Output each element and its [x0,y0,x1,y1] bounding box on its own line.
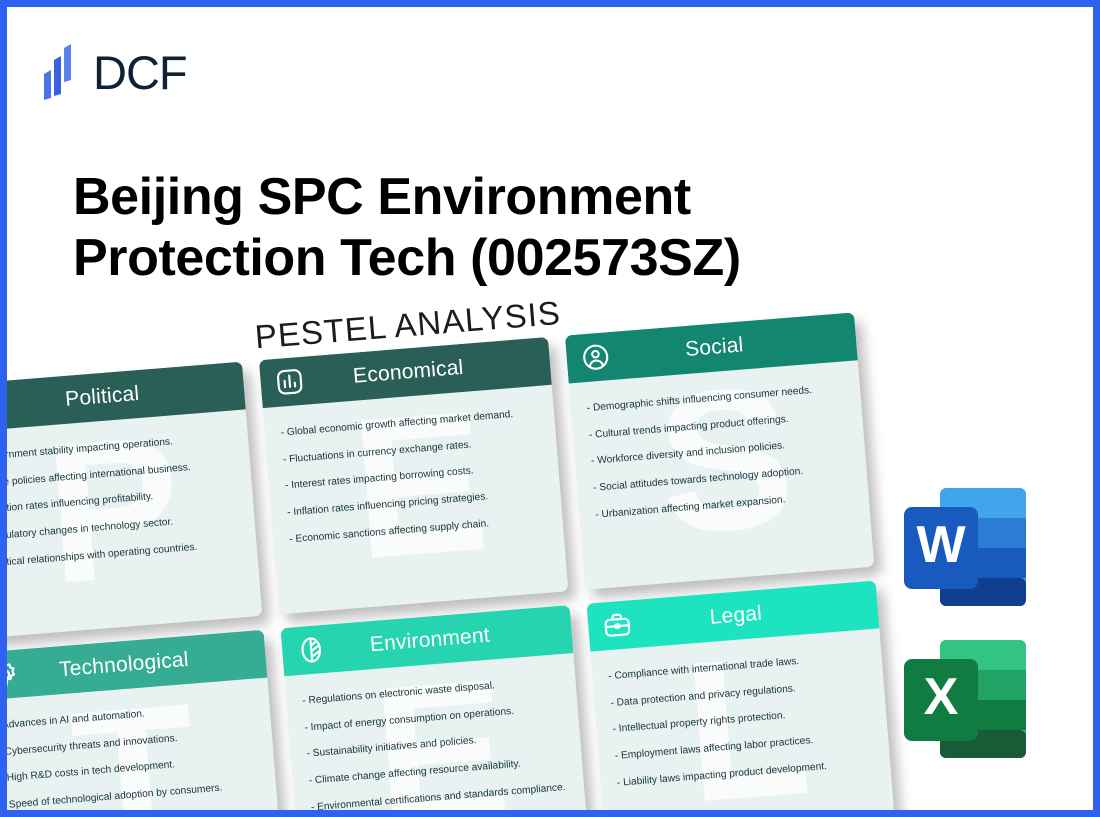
pestel-bullet: - Workforce diversity and inclusion poli… [591,436,849,468]
pestel-card-body-economical: - Global economic growth affecting marke… [263,385,565,570]
pestel-bullet: - Speed of technological adoption by con… [2,780,260,812]
brand-name: DCF [93,49,187,96]
pestel-bullet: - Political relationships with operating… [0,538,241,570]
pestel-bullet: - Sustainability initiatives and policie… [306,728,564,760]
leaf-icon [295,634,327,666]
pestel-card-body-legal: - Compliance with international trade la… [590,628,892,813]
pestel-bullet: - Economic sanctions affecting supply ch… [289,514,547,546]
pestel-card-social: SSocial- Demographic shifts influencing … [565,312,875,589]
pestel-card-technological: TTechnological- Advances in AI and autom… [0,630,284,817]
pestel-bullet: - Social attitudes towards technology ad… [593,462,851,494]
pestel-bullet: - Environmental certifications and stand… [310,782,568,814]
microsoft-word-icon[interactable]: W [900,485,1030,610]
pestel-bullet: - Trade policies affecting international… [0,458,235,490]
pestel-bullet: - High R&D costs in tech development. [0,753,258,785]
page-title-line1: Beijing SPC Environment [73,167,893,228]
bar-chart-icon [274,366,306,398]
user-circle-icon [580,341,612,373]
pestel-bullet: - Taxation rates influencing profitabili… [0,485,237,517]
gear-icon [0,658,21,690]
pestel-bullet: - Impact of energy consumption on operat… [304,702,562,734]
pestel-bullet: - Climate change affecting resource avai… [308,755,566,787]
pestel-bullet: - Cultural trends impacting product offe… [588,409,846,441]
pestel-bullet: - Regulatory changes in technology secto… [0,512,239,544]
pestel-card-grid: PPolitical- Government stability impacti… [0,310,922,817]
pestel-bullet: - Interest rates impacting borrowing cos… [285,460,543,492]
pestel-card-environment: EEnvironment- Regulations on electronic … [280,605,590,817]
briefcase-icon [601,609,633,641]
pestel-card-title-technological: Technological [19,643,252,686]
pestel-bullet: - Government stability impacting operati… [0,432,232,464]
slide-canvas: DCF Beijing SPC Environment Protection T… [0,0,1100,817]
dcf-bars-logo-icon [42,44,82,100]
pestel-bullet: - Urbanization affecting market expansio… [595,489,853,521]
pestel-bullet: - Demographic shifts influencing consume… [586,382,844,414]
pestel-bullet: - Compliance with international trade la… [608,651,866,683]
pestel-card-legal: LLegal- Compliance with international tr… [586,580,896,817]
pestel-analysis-graphic: PESTEL ANALYSIS PPolitical- Government s… [0,260,948,817]
pestel-bullet: - Liability laws impacting product devel… [616,757,874,789]
pestel-card-title-legal: Legal [631,594,864,637]
pestel-card-title-economical: Economical [304,350,537,393]
pestel-card-political: PPolitical- Government stability impacti… [0,362,262,639]
pestel-bullet: - Global economic growth affecting marke… [280,407,538,439]
pestel-card-title-social: Social [610,325,843,368]
pestel-card-economical: EEconomical- Global economic growth affe… [259,337,569,614]
pestel-bullet: - Intellectual property rights protectio… [612,704,870,736]
pestel-bullet: - Inflation rates influencing pricing st… [287,487,545,519]
brand-logo[interactable]: DCF [42,44,187,100]
pestel-card-body-political: - Government stability impacting operati… [0,409,259,594]
microsoft-excel-icon[interactable]: X [900,637,1030,762]
pestel-bullet: - Cybersecurity threats and innovations. [0,726,256,758]
svg-text:X: X [924,668,959,726]
pestel-card-body-technological: - Advances in AI and automation.- Cybers… [0,678,280,817]
pestel-card-body-social: - Demographic shifts influencing consume… [569,360,871,545]
pestel-bullet: - Regulations on electronic waste dispos… [302,675,560,707]
pestel-bullet: - Employment laws affecting labor practi… [614,730,872,762]
pestel-bullet: - Fluctuations in currency exchange rate… [282,434,540,466]
pestel-bullet: - Data protection and privacy regulation… [610,677,868,709]
svg-text:W: W [916,516,966,574]
pestel-card-title-environment: Environment [325,618,558,661]
pestel-card-body-environment: - Regulations on electronic waste dispos… [284,653,586,817]
pestel-bullet: - Advances in AI and automation. [0,700,254,732]
pestel-card-title-political: Political [0,375,231,418]
